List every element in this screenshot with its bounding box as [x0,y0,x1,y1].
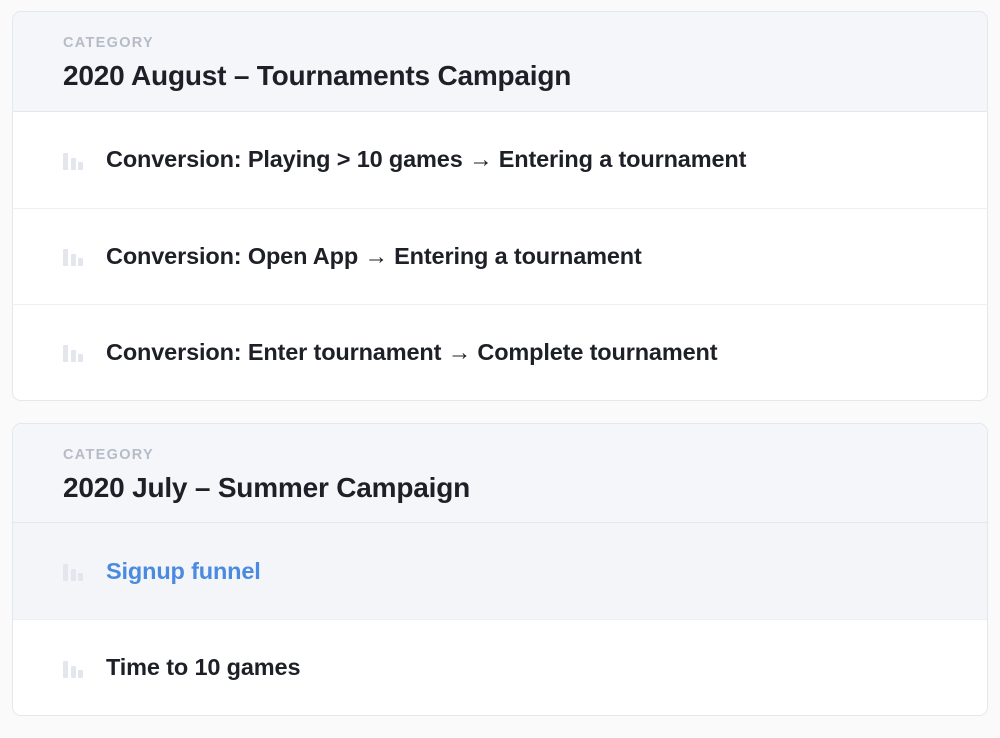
list-item[interactable]: Conversion: Enter tournament → Complete … [13,304,987,400]
bar-chart-icon [63,342,85,362]
bar-chart-icon [63,246,85,266]
list-item[interactable]: Time to 10 games [13,619,987,715]
category-card-summer-campaign: CATEGORY 2020 July – Summer Campaign Sig… [12,423,988,717]
category-card-tournaments-campaign: CATEGORY 2020 August – Tournaments Campa… [12,11,988,401]
bar-chart-icon [63,561,85,581]
category-eyebrow-label: CATEGORY [63,36,987,52]
insights-category-list: CATEGORY 2020 August – Tournaments Campa… [0,0,1000,738]
insight-list: Signup funnel Time to 10 games [13,523,987,715]
list-item-label: Signup funnel [106,558,261,585]
list-item-label: Conversion: Playing > 10 games → Enterin… [106,146,746,173]
category-title: 2020 August – Tournaments Campaign [63,59,987,94]
category-card-header: CATEGORY 2020 July – Summer Campaign [13,424,987,524]
category-card-header: CATEGORY 2020 August – Tournaments Campa… [13,12,987,112]
list-item-label: Conversion: Enter tournament → Complete … [106,339,717,366]
list-item-label: Time to 10 games [106,654,300,681]
bar-chart-icon [63,150,85,170]
category-title: 2020 July – Summer Campaign [63,471,987,506]
list-item[interactable]: Conversion: Playing > 10 games → Enterin… [13,112,987,208]
bar-chart-icon [63,658,85,678]
list-item-label: Conversion: Open App → Entering a tourna… [106,243,642,270]
list-item[interactable]: Conversion: Open App → Entering a tourna… [13,208,987,304]
insight-list: Conversion: Playing > 10 games → Enterin… [13,112,987,400]
list-item-selected[interactable]: Signup funnel [13,523,987,619]
category-eyebrow-label: CATEGORY [63,448,987,464]
